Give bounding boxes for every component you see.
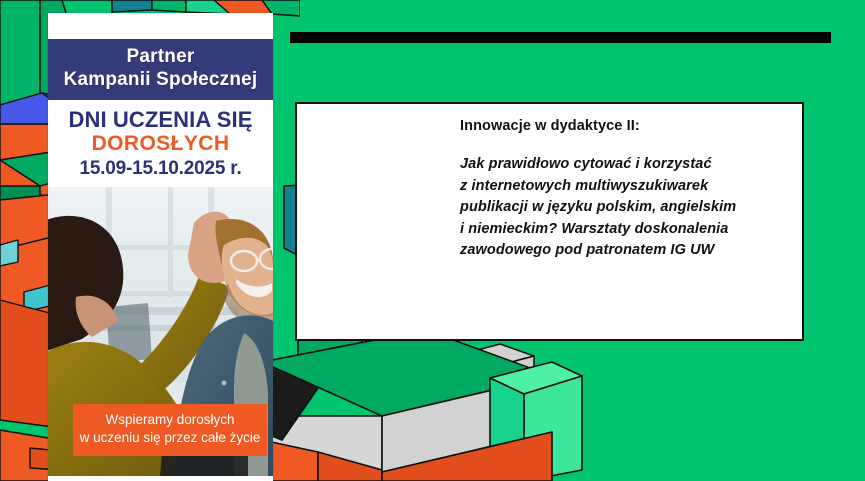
poster-band-line2: Kampanii Społecznej <box>52 68 269 91</box>
poster-footer-line1: Wspieramy dorosłych <box>79 411 261 429</box>
panel-body-line: i niemieckim? Warsztaty doskonalenia <box>460 219 790 241</box>
panel-body-line: z internetowych multiwyszukiwarek <box>460 176 790 198</box>
poster-card[interactable]: Partner Kampanii Społecznej DNI UCZENIA … <box>48 13 273 481</box>
panel-body-line: zawodowego pod patronatem IG UW <box>460 240 790 262</box>
panel-body-line: Jak prawidłowo cytować i korzystać <box>460 154 790 176</box>
black-divider-bar <box>290 32 831 43</box>
poster-title-line1: DNI UCZENIA SIĘ <box>50 107 271 132</box>
panel-body: Jak prawidłowo cytować i korzystać z int… <box>460 154 790 262</box>
poster-title-dates: 15.09-15.10.2025 r. <box>50 156 271 181</box>
poster-footer-line2: w uczeniu się przez całe życie <box>79 429 261 447</box>
panel-heading: Innowacje w dydaktyce II: <box>460 118 640 134</box>
poster-title-line2: DOROSŁYCH <box>50 132 271 156</box>
poster-footer-banner: Wspieramy dorosłych w uczeniu się przez … <box>73 404 267 456</box>
content-text-panel: Innowacje w dydaktyce II: Jak prawidłowo… <box>295 102 804 341</box>
poster-partner-band: Partner Kampanii Społecznej <box>48 39 273 100</box>
panel-body-line: publikacji w języku polskim, angielskim <box>460 197 790 219</box>
poster-band-line1: Partner <box>52 46 269 68</box>
slide-canvas: Partner Kampanii Społecznej DNI UCZENIA … <box>0 0 865 481</box>
poster-photo: Wspieramy dorosłych w uczeniu się przez … <box>48 187 273 476</box>
poster-top-margin <box>48 13 273 39</box>
poster-title-block: DNI UCZENIA SIĘ DOROSŁYCH 15.09-15.10.20… <box>48 100 273 187</box>
